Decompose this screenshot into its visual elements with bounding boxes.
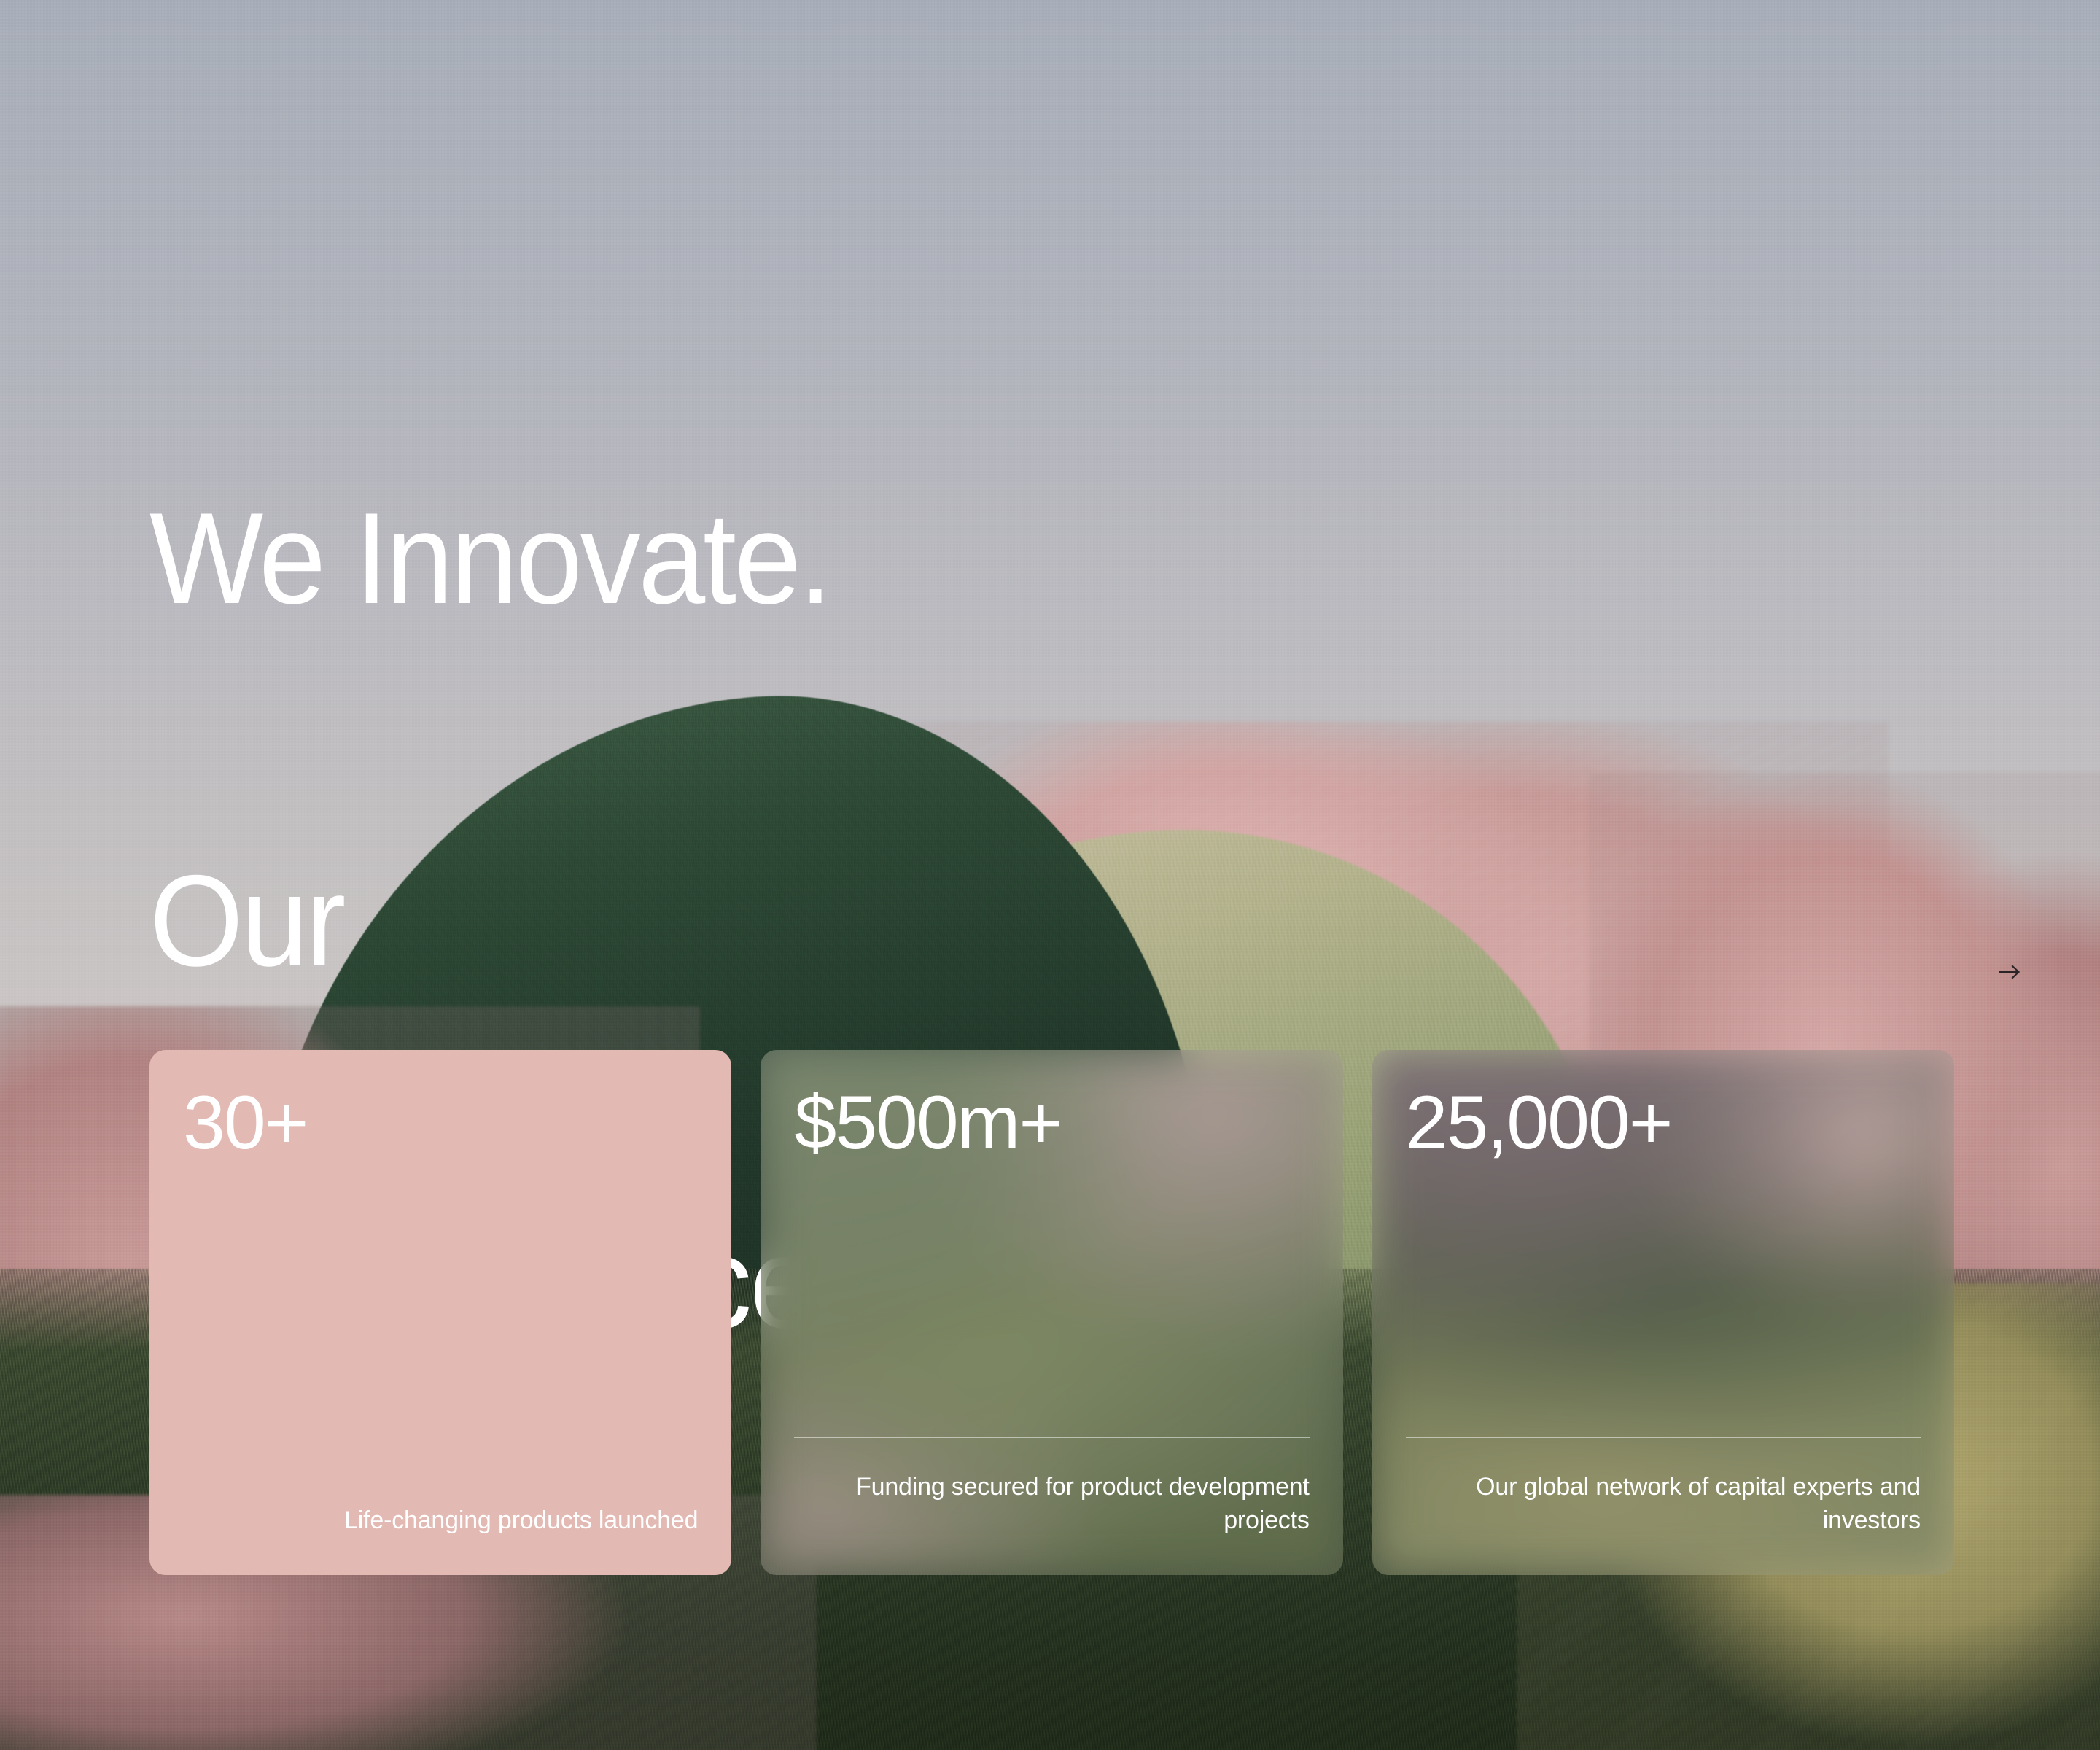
stat-divider — [794, 1437, 1309, 1438]
stat-card-funding[interactable]: $500m+ Funding secured for product devel… — [761, 1050, 1342, 1575]
hero-stage: We Innovate. Our Performance. 30+ Life-c… — [0, 0, 2100, 1750]
stat-spacer — [794, 1161, 1309, 1437]
arrow-right-icon[interactable] — [1993, 955, 2026, 989]
stat-spacer — [183, 1161, 698, 1471]
stat-caption: Funding secured for product development … — [794, 1470, 1309, 1537]
page-title-line-1: We Innovate. — [149, 498, 846, 619]
stat-spacer — [1406, 1161, 1921, 1437]
stat-value: 30+ — [183, 1085, 698, 1161]
stat-divider — [183, 1471, 698, 1471]
stat-value: $500m+ — [794, 1085, 1309, 1161]
stat-card-products[interactable]: 30+ Life-changing products launched — [149, 1050, 731, 1575]
stat-caption: Life-changing products launched — [183, 1504, 698, 1537]
page-title-line-2: Our — [149, 860, 846, 981]
stat-caption: Our global network of capital experts an… — [1406, 1470, 1921, 1537]
stat-divider — [1406, 1437, 1921, 1438]
stat-value: 25,000+ — [1406, 1085, 1921, 1161]
stats-card-row: 30+ Life-changing products launched $500… — [149, 1050, 1954, 1575]
stat-card-network[interactable]: 25,000+ Our global network of capital ex… — [1372, 1050, 1954, 1575]
